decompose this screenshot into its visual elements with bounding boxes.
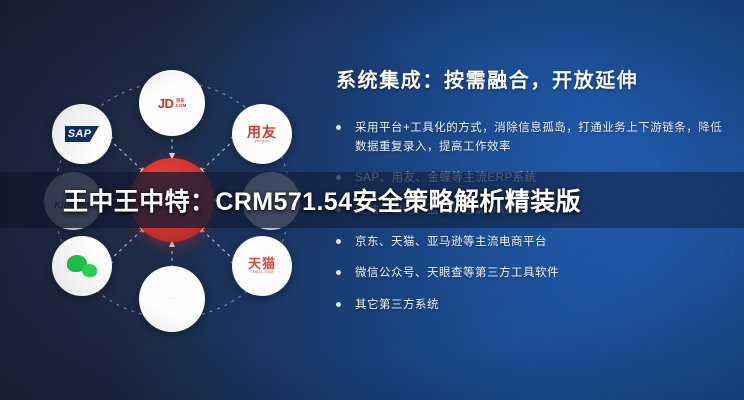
- list-item: 其它第三方系统: [336, 296, 728, 315]
- diagram-node-tmall[interactable]: 天猫 TMALL.COM: [232, 236, 292, 296]
- bullet-text: 其它第三方系统: [355, 296, 728, 315]
- other-logo-icon: ···: [168, 297, 176, 302]
- wechat-logo-icon: [67, 255, 97, 277]
- list-item: 京东、天猫、亚马逊等主流电商平台: [336, 233, 728, 252]
- bullet-dot-icon: [336, 125, 341, 130]
- slide-heading: 系统集成：按需融合，开放延伸: [336, 64, 728, 93]
- bullet-text: 采用平台+工具化的方式，消除信息孤岛，打通业务上下游链条，降低数据重复录入，提高…: [355, 119, 728, 156]
- bullet-dot-icon: [336, 302, 341, 307]
- sap-logo-icon: SAP: [65, 126, 99, 142]
- diagram-node-other[interactable]: ···: [139, 266, 205, 332]
- overlay-title-band: 王中王中特：CRM571.54安全策略解析精装版: [0, 172, 744, 228]
- bullet-dot-icon: [336, 270, 341, 275]
- bullet-dot-icon: [336, 239, 341, 244]
- diagram-node-wechat[interactable]: [52, 236, 112, 296]
- yonyou-logo-icon: 用友 yonyou: [247, 125, 277, 144]
- bullet-text: 微信公众号、天眼查等第三方工具软件: [355, 264, 728, 283]
- slide-canvas: JD 京东 .COM SAP 用友 yonyou 金蝶 King: [0, 0, 744, 400]
- overlay-title-text: 王中王中特：CRM571.54安全策略解析精装版: [0, 182, 581, 218]
- diagram-node-yonyou[interactable]: 用友 yonyou: [232, 104, 292, 164]
- list-item: 采用平台+工具化的方式，消除信息孤岛，打通业务上下游链条，降低数据重复录入，提高…: [336, 119, 728, 156]
- bullet-text: 京东、天猫、亚马逊等主流电商平台: [355, 233, 728, 252]
- jd-logo-icon: JD 京东 .COM: [158, 97, 186, 110]
- diagram-node-sap[interactable]: SAP: [52, 104, 112, 164]
- tmall-logo-icon: 天猫 TMALL.COM: [248, 257, 276, 274]
- diagram-node-jd[interactable]: JD 京东 .COM: [139, 70, 205, 136]
- list-item: 微信公众号、天眼查等第三方工具软件: [336, 264, 728, 283]
